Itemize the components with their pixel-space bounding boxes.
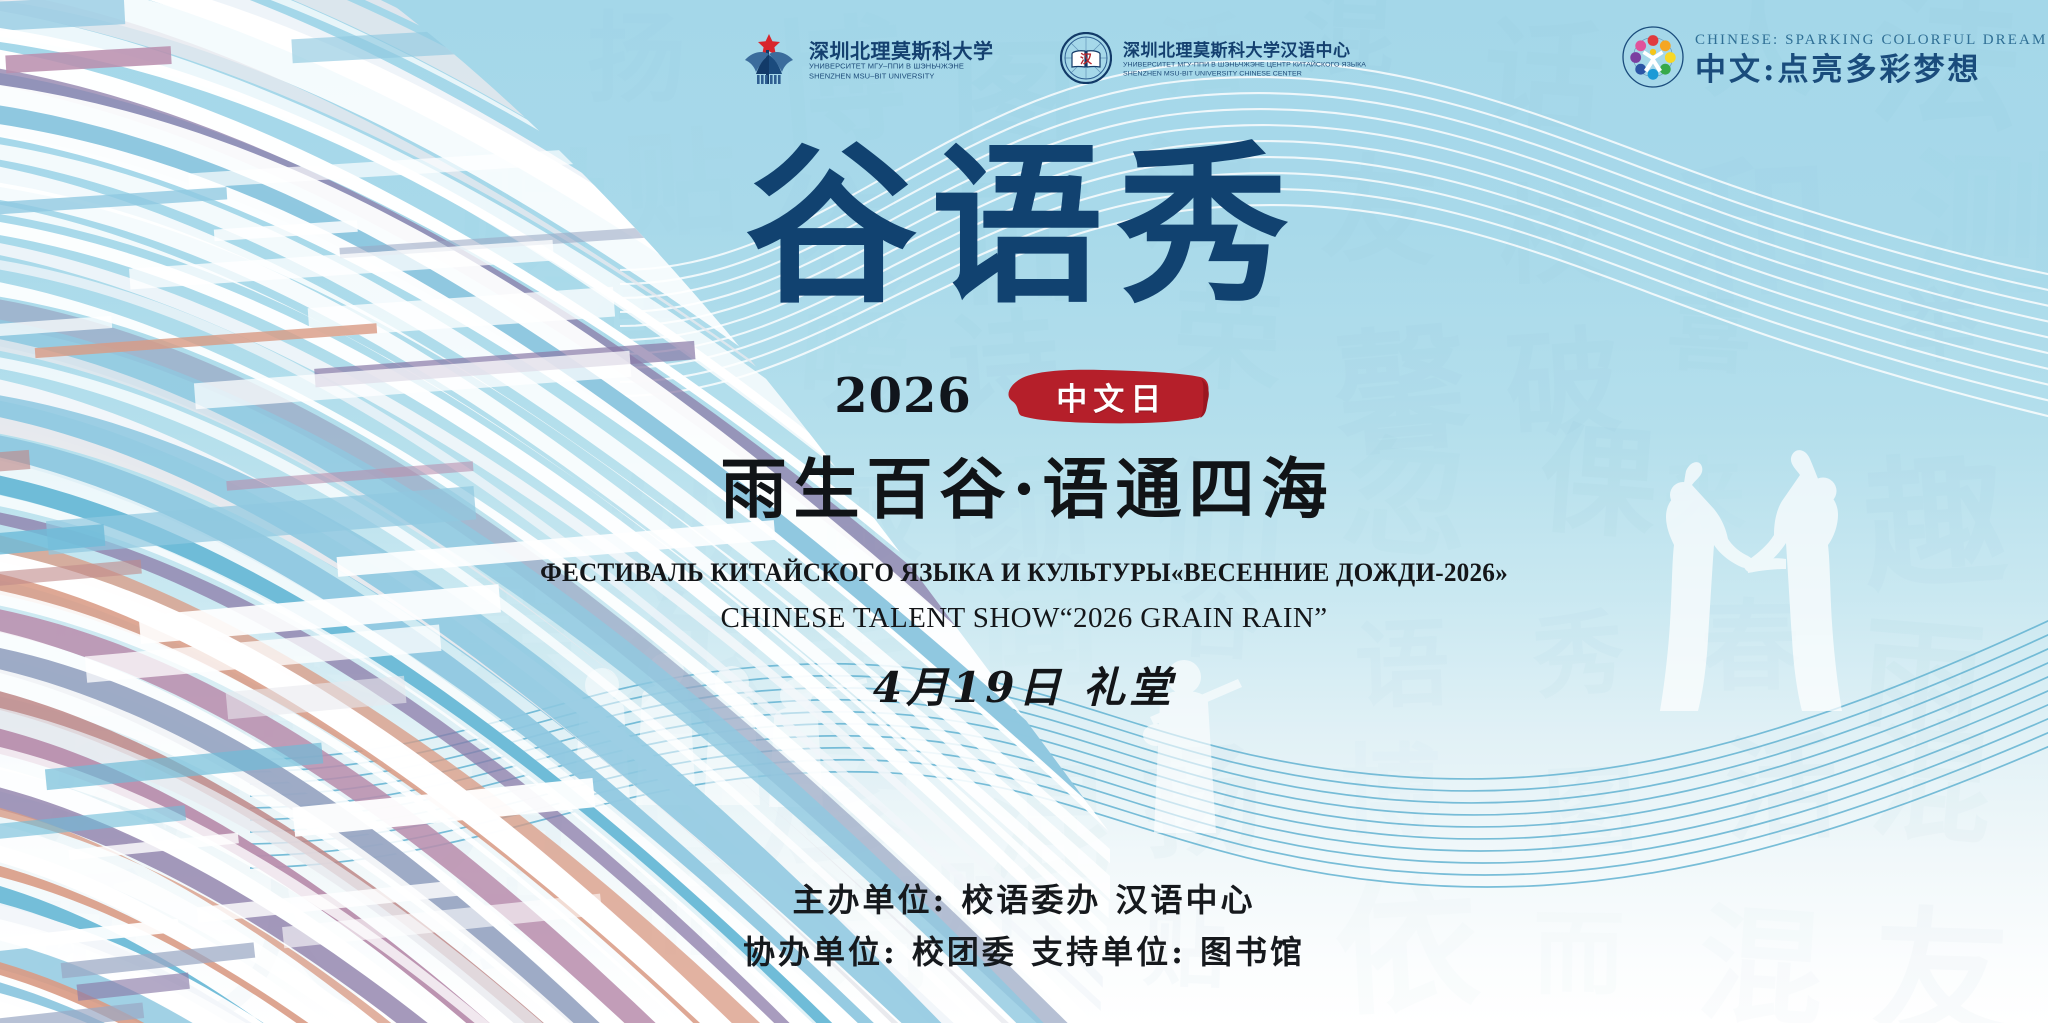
co-organizer-line: 协办单位: 校团委 支持单位: 图书馆 — [743, 932, 1305, 972]
logo-shenzhen-msu-bit-university: 深圳北理莫斯科大学 УНИВЕРСИТЕТ МГУ–ППИ В ШЭНЬЧЖЭН… — [740, 32, 994, 89]
ribbon-stripe-segment — [139, 584, 501, 644]
ribbon-stripe — [0, 999, 1024, 1023]
ghost-character: 佳 — [589, 277, 685, 373]
ghost-character: 而 — [630, 858, 739, 967]
ribbon-stripe — [0, 1018, 1022, 1023]
ribbon-stripe-segment — [314, 341, 695, 388]
year-and-badge-row: 2026 中文日 — [834, 365, 1214, 427]
ghost-character: 混 — [984, 760, 1112, 888]
chinese-day-badge: 中文日 — [994, 367, 1214, 425]
ribbon-stripe — [0, 691, 1055, 1023]
logo-name-en: SHENZHEN MSU-BIT UNIVERSITY CHINESE CENT… — [1123, 70, 1366, 79]
chinese-language-day-emblem-icon — [1622, 26, 1684, 93]
poster-header: 深圳北理莫斯科大学 УНИВЕРСИТЕТ МГУ–ППИ В ШЭНЬЧЖЭН… — [0, 0, 2048, 108]
ghost-character: 博 — [1340, 741, 1441, 842]
logo-name-cn: 深圳北理莫斯科大学 — [809, 40, 994, 62]
festival-title-english: CHINESE TALENT SHOW“2026 GRAIN RAIN” — [720, 600, 1327, 636]
date-and-venue: 4月19日 礼堂 — [873, 662, 1175, 714]
ribbon-stripe-segment — [0, 560, 142, 594]
ghost-character: 月 — [440, 736, 589, 885]
ghost-character: 法 — [444, 878, 549, 983]
ghost-character: 花 — [213, 714, 298, 799]
ghost-character: 混 — [1866, 721, 1997, 852]
ribbon-stripe-segment — [46, 486, 476, 555]
international-chinese-language-day-block: CHINESE: SPARKING COLORFUL DREAMS 中文:点亮多… — [1622, 26, 2048, 93]
dancer-pair-silhouette — [1640, 433, 1970, 723]
slogan-line: 雨生百谷·语通四海 — [714, 452, 1335, 526]
ribbon-stripe-segment — [0, 919, 179, 960]
organizer-line: 主办单位: 校语委办 汉语中心 — [792, 880, 1255, 920]
ghost-character: 人 — [204, 863, 365, 1023]
ribbon-stripe-segment — [85, 625, 442, 683]
ghost-character: 来 — [1661, 454, 1746, 539]
tagline-en: CHINESE: SPARKING COLORFUL DREAMS — [1695, 32, 2048, 49]
ribbon-stripe-segment — [61, 942, 256, 978]
ghost-character: 财 — [453, 146, 610, 303]
ghost-character: 校 — [1498, 181, 1608, 291]
ribbon-stripe-segment — [282, 894, 602, 949]
logo-name-en: SHENZHEN MSU–BIT UNIVERSITY — [809, 72, 994, 81]
folk-band-silhouette — [560, 643, 890, 863]
ghost-character: 趣 — [1858, 447, 2011, 600]
ribbon-stripe — [0, 980, 1026, 1023]
ribbon-stripe-segment — [226, 461, 473, 491]
logo-chinese-center: 汉 深圳北理莫斯科大学汉语中心 УНИВЕРСИТЕТ МГУ-ППИ В ШЭ… — [1060, 32, 1366, 89]
ribbon-stripe — [0, 710, 1053, 1023]
svg-text:汉: 汉 — [1080, 51, 1093, 66]
ghost-character: 友 — [1319, 151, 1441, 273]
ribbon-stripe-segment — [308, 287, 615, 338]
ribbon-stripe-segment — [0, 316, 112, 341]
ribbon-stripe-segment — [68, 833, 239, 861]
ghost-character: 混 — [1694, 899, 1828, 1023]
ghost-character: 忽 — [1339, 432, 1474, 567]
ghost-character: 话 — [24, 864, 149, 989]
ribbon-stripe-segment — [77, 973, 190, 1001]
chinese-center-emblem-icon: 汉 — [1060, 32, 1112, 89]
ghost-character: 活 — [1723, 731, 1841, 849]
ghost-character: 秀 — [1530, 606, 1628, 704]
ribbon-stripe-segment — [45, 743, 323, 791]
university-emblem-icon — [740, 32, 798, 89]
ghost-character: 喜 — [1664, 291, 1754, 381]
svg-text:谷语秀: 谷语秀 — [745, 128, 1303, 327]
ghost-character: 风 — [37, 711, 181, 855]
ribbon-stripe — [0, 729, 1051, 1023]
ribbon-stripe-segment — [0, 524, 105, 560]
ribbon-stripe-segment — [292, 778, 595, 837]
ghost-character: 友 — [1871, 904, 2011, 1023]
poster-canvas: 扬博图活混话人法财贴依而混友校和测佳嗳诗荣馨破喜举妙敲颜仙忽倮来趣诗琴罢尔笔闻谷… — [0, 0, 2048, 1023]
logo-name-cn: 深圳北理莫斯科大学汉语中心 — [1123, 42, 1366, 61]
ghost-character: 破 — [1503, 324, 1625, 446]
ghost-character: 测 — [1906, 147, 2048, 303]
ghost-character: 倮 — [1535, 420, 1662, 547]
ribbon-stripe — [0, 826, 1041, 1023]
ribbon-stripe-segment — [0, 1002, 144, 1023]
ribbon-stripe-segment — [0, 805, 186, 843]
ghost-character: 诗 — [39, 583, 132, 676]
ghost-character: 罢 — [454, 574, 576, 696]
ribbon-stripe-segment — [0, 187, 227, 222]
ghost-character: 雨 — [1858, 611, 1989, 742]
festival-title-russian: ФЕСТИВАЛЬ КИТАЙСКОГО ЯЗЫКА И КУЛЬТУРЫ«ВЕ… — [540, 557, 1508, 589]
ribbon-stripe-segment — [0, 450, 30, 479]
logo-text-block: 深圳北理莫斯科大学 УНИВЕРСИТЕТ МГУ–ППИ В ШЭНЬЧЖЭН… — [809, 40, 994, 81]
year-label: 2026 — [834, 371, 972, 421]
ribbon-stripe-segment — [188, 148, 598, 189]
badge-label: 中文日 — [994, 367, 1214, 425]
ghost-character: 琴 — [252, 622, 382, 752]
logo-name-ru: УНИВЕРСИТЕТ МГУ-ППИ В ШЭНЬЧЖЭНЕ ЦЕНТР КИ… — [1123, 61, 1366, 70]
ribbon-stripe-segment — [194, 351, 631, 410]
ghost-character: 馨 — [1329, 319, 1474, 464]
logo-text-block: 深圳北理莫斯科大学汉语中心 УНИВЕРСИТЕТ МГУ-ППИ В ШЭНЬ… — [1123, 42, 1366, 79]
logo-name-ru: УНИВЕРСИТЕТ МГУ–ППИ В ШЭНЬЧЖЭНЕ — [809, 62, 994, 71]
language-day-taglines: CHINESE: SPARKING COLORFUL DREAMS 中文:点亮多… — [1695, 32, 2048, 87]
ghost-character: 春 — [1701, 597, 1801, 697]
ghost-character: 举 — [1898, 286, 1981, 369]
ghost-character: 彦 — [758, 721, 915, 878]
ribbon-stripe-segment — [214, 220, 358, 241]
ghost-character: 而 — [1532, 909, 1624, 1001]
ghost-character: 和 — [1674, 151, 1837, 314]
ghost-character: 扬 — [1137, 739, 1266, 868]
ribbon-stripe-segment — [35, 323, 377, 358]
ghost-character: 语 — [1353, 617, 1451, 715]
ribbon-stripe-segment — [129, 240, 554, 290]
ribbon-stripe-segment — [197, 880, 458, 923]
ribbon-stripe-segment — [339, 227, 657, 259]
ribbon-stripe-segment — [226, 676, 407, 720]
ghost-character: 时 — [597, 728, 742, 873]
tagline-cn: 中文:点亮多彩梦想 — [1695, 53, 2048, 87]
ghost-character: 依 — [1331, 872, 1483, 1023]
brush-calligraphy-title: 谷语秀 — [714, 128, 1334, 328]
ghost-character: 图 — [1542, 762, 1639, 859]
